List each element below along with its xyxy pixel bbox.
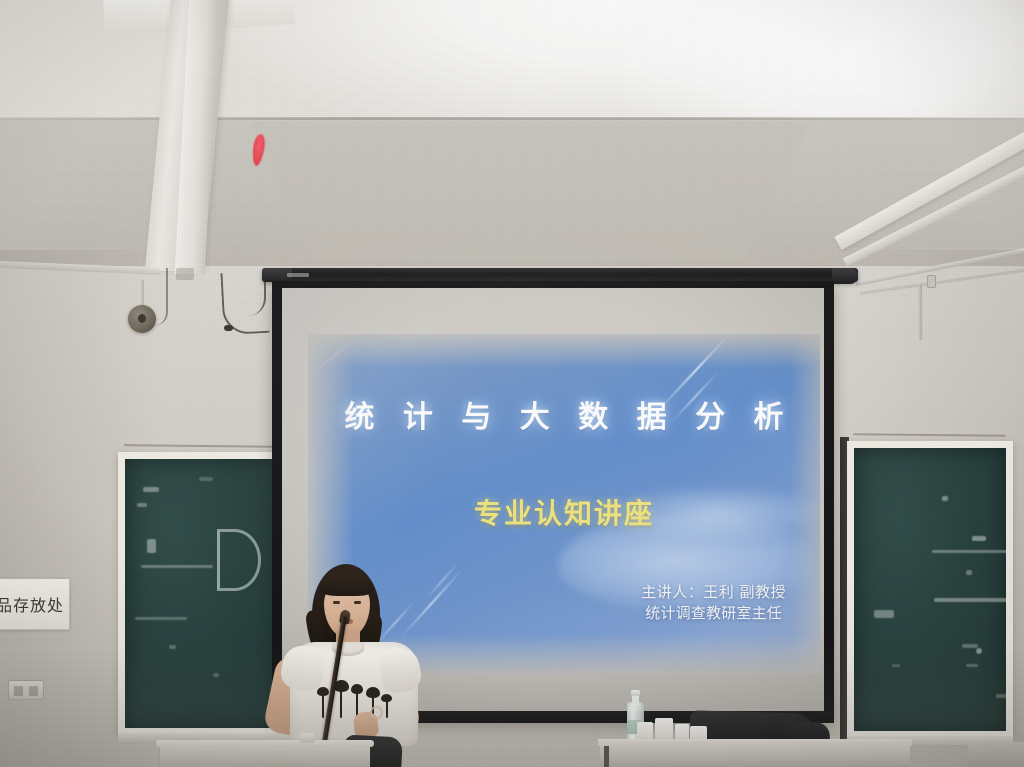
floor-shadow [0,647,1024,767]
projector-screen-roller [262,268,858,282]
wall-fixture-box [176,268,194,280]
roller-cap-right [832,268,858,284]
presenter-eye-left [333,601,340,604]
chalk-mark [874,610,894,618]
chalk-mark [972,536,986,541]
cable-clip [224,325,233,331]
presenter-eye-right [354,601,361,604]
chalk-mark [135,617,187,620]
wall-cable-left [150,268,168,326]
chalk-mark [932,550,1008,553]
chalk-mark-d [217,529,261,591]
chalk-mark [143,487,159,492]
chalk-mark [934,598,1008,602]
wall-sign-label: 品存放处 [0,592,64,616]
soffit-edge-line [0,117,1024,120]
chalk-mark [137,503,147,507]
chalk-mark [147,539,156,553]
wall-sign: 品存放处 [0,578,70,630]
roller-brand-plate [287,273,309,277]
soffit-face [250,122,810,262]
chalk-mark [966,570,972,575]
alarm-bell-bracket [139,280,144,308]
lecture-hall-photo: 品存放处 统 计 与 大 数 据 分 析 专业认知讲座 主讲人：王利 副教授 统… [0,0,1024,767]
chalk-mark [942,496,948,501]
chalk-mark [199,477,213,481]
chalk-mark [141,565,213,568]
